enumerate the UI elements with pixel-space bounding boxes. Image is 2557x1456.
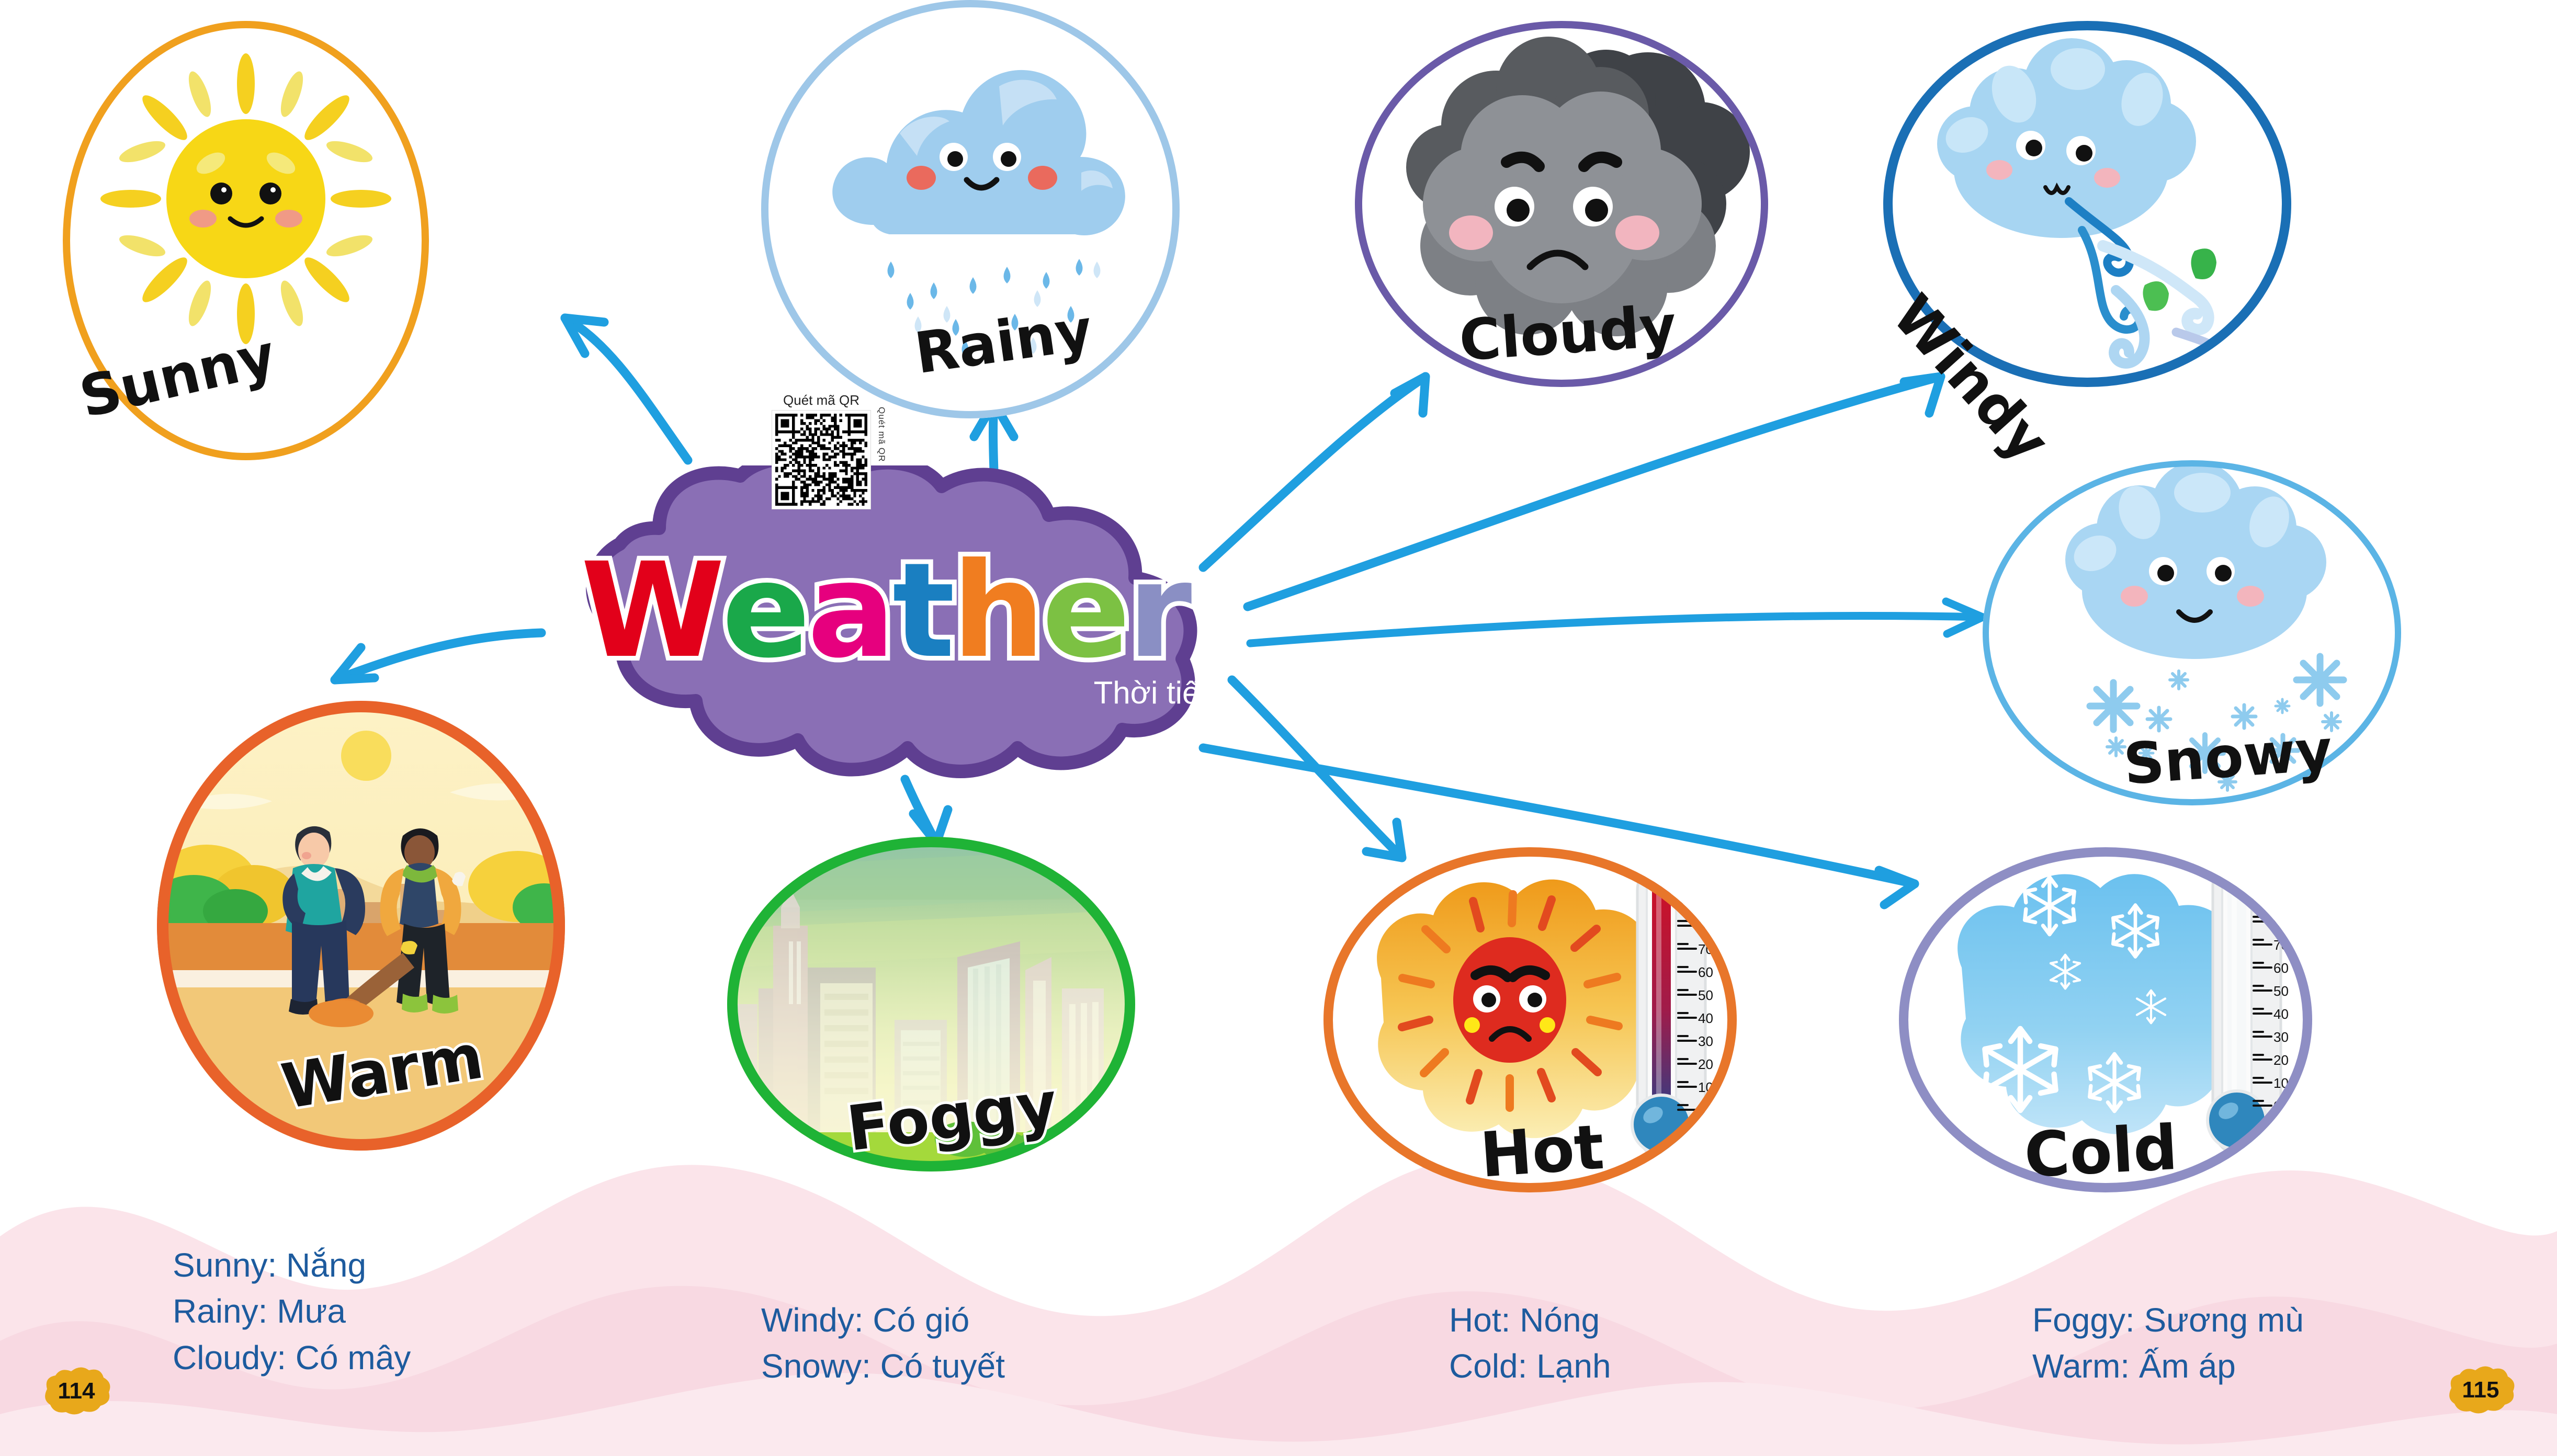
arrow-to-sunny — [565, 318, 688, 460]
thermometer-degree-symbol: ° — [1679, 860, 1684, 873]
weather-title-letter-h-4: h — [952, 552, 1042, 669]
arrow-to-foggy — [905, 779, 948, 843]
qr-label: Quét mã QR — [772, 392, 871, 408]
thermometer-degree-symbol: ° — [2255, 856, 2259, 869]
page-number-left: 114 — [40, 1366, 113, 1416]
mindmap-page: .arw { fill:none; stroke:#1f9fe0; stroke… — [0, 0, 2557, 1456]
central-weather-node[interactable]: Weather Thời tiết — [502, 465, 1297, 784]
legend-entry: Rainy: Mưa — [173, 1288, 411, 1334]
page-number-right: 115 — [2444, 1365, 2517, 1415]
qr-side-label: Quét mã QR — [872, 407, 887, 462]
bubble-hot-label: Hot — [1478, 1111, 1606, 1191]
legend-entry: Cold: Lạnh — [1449, 1343, 1611, 1389]
bubble-cold-label: Cold — [2022, 1111, 2179, 1191]
qr-code-image[interactable] — [772, 410, 871, 509]
weather-title-letter-e-5: e — [1042, 552, 1128, 669]
legend-entry: Sunny: Nắng — [173, 1242, 411, 1288]
thermometer-tick-60: 60 — [2273, 960, 2289, 976]
thermometer-tick-10: 10 — [2273, 1075, 2289, 1091]
legend-column-3: Foggy: Sương mùWarm: Ấm áp — [2032, 1297, 2304, 1390]
thermometer-tick-30: 30 — [1698, 1033, 1713, 1049]
thermometer-tick-70: 70 — [2273, 937, 2289, 953]
thermometer-tick-50: 50 — [1698, 987, 1713, 1003]
legend-entry: Windy: Có gió — [761, 1297, 1005, 1343]
thermometer-tick-90: 90 — [2273, 891, 2289, 907]
page-badge-left: 114 — [40, 1366, 113, 1416]
thermometer-tick-80: 80 — [1698, 918, 1713, 934]
thermometer-tick-0: 0 — [2273, 1098, 2281, 1114]
thermometer-tick-70: 70 — [1698, 941, 1713, 957]
thermometer-tick-80: 80 — [2273, 914, 2289, 930]
thermometer-tick-40: 40 — [1698, 1010, 1713, 1026]
legend-entry: Cloudy: Có mây — [173, 1335, 411, 1381]
qr-code-block[interactable]: Quét mã QR Quét mã QR — [772, 392, 871, 512]
thermometer-cold: 1009080706050403020100 ° C — [2208, 849, 2296, 1157]
thermometer-tick-20: 20 — [1698, 1056, 1713, 1072]
weather-title: Weather — [581, 552, 1219, 669]
thermometer-unit: C — [2262, 849, 2279, 874]
thermometer-tick-90: 90 — [1698, 895, 1713, 911]
legend-column-1: Windy: Có gióSnowy: Có tuyết — [761, 1297, 1005, 1390]
thermometer-hot: 1009080706050403020100 ° C — [1632, 853, 1721, 1161]
weather-title-letter-a-2: a — [807, 552, 892, 669]
thermometer-tick-40: 40 — [2273, 1006, 2289, 1022]
thermometer-tick-60: 60 — [1698, 964, 1713, 980]
weather-title-letter-r-6: r — [1127, 552, 1189, 669]
weather-title-letter-e-1: e — [722, 552, 808, 669]
thermometer-tick-0: 0 — [1698, 1102, 1705, 1118]
arrow-to-snowy — [1250, 601, 1983, 643]
weather-subtitle: Thời tiết — [1094, 675, 1208, 711]
thermometer-tick-30: 30 — [2273, 1029, 2289, 1045]
thermometer-tick-20: 20 — [2273, 1052, 2289, 1068]
weather-title-letter-w-0: W — [581, 552, 722, 669]
thermometer-tick-50: 50 — [2273, 983, 2289, 999]
legend-entry: Warm: Ấm áp — [2032, 1343, 2304, 1389]
legend-entry: Snowy: Có tuyết — [761, 1343, 1005, 1389]
legend-column-0: Sunny: NắngRainy: MưaCloudy: Có mây — [173, 1242, 411, 1381]
thermometer-tick-10: 10 — [1698, 1079, 1713, 1095]
legend-entry: Hot: Nóng — [1449, 1297, 1611, 1343]
legend-entry: Foggy: Sương mù — [2032, 1297, 2304, 1343]
legend-column-2: Hot: NóngCold: Lạnh — [1449, 1297, 1611, 1390]
page-badge-right: 115 — [2444, 1365, 2517, 1415]
weather-title-letter-t-3: t — [892, 552, 952, 669]
arrow-to-windy — [1248, 377, 1941, 607]
thermometer-unit: C — [1687, 853, 1703, 879]
